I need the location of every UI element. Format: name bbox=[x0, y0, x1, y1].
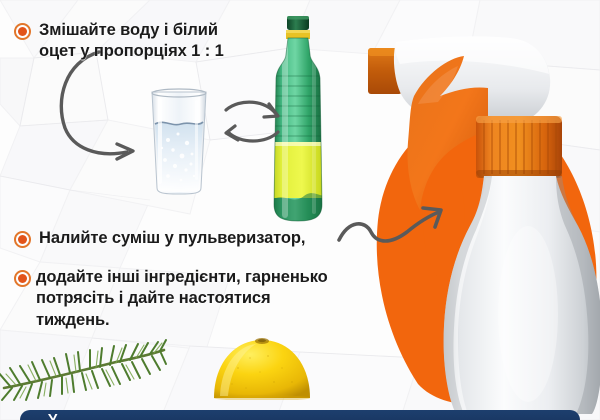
infographic-canvas: Змішайте воду і білий оцет у пропорціях … bbox=[0, 0, 600, 420]
rosemary-sprig bbox=[0, 338, 168, 408]
instruction-step-2: Налийте суміш у пульверизатор, bbox=[14, 228, 344, 249]
instruction-step-1-text: Змішайте воду і білий оцет у пропорціях … bbox=[39, 20, 224, 63]
instruction-step-3-text: додайте інші інгредієнти, гарненько потр… bbox=[36, 267, 328, 331]
bottom-banner-text: У bbox=[48, 412, 57, 420]
instruction-step-1: Змішайте воду і білий оцет у пропорціях … bbox=[14, 20, 274, 63]
bullet-dot-icon bbox=[14, 23, 31, 40]
bullet-dot-icon bbox=[14, 231, 31, 248]
bullet-dot-icon bbox=[14, 270, 31, 287]
arrow-text-to-glass-icon bbox=[55, 48, 185, 163]
arrow-to-spray-icon bbox=[335, 198, 453, 264]
bottom-banner: У bbox=[20, 410, 580, 420]
arrow-glass-bottle-icon bbox=[222, 100, 284, 150]
instruction-step-2-text: Налийте суміш у пульверизатор, bbox=[39, 228, 305, 249]
lemon-half bbox=[212, 338, 312, 400]
instruction-step-3: додайте інші інгредієнти, гарненько потр… bbox=[14, 267, 374, 331]
